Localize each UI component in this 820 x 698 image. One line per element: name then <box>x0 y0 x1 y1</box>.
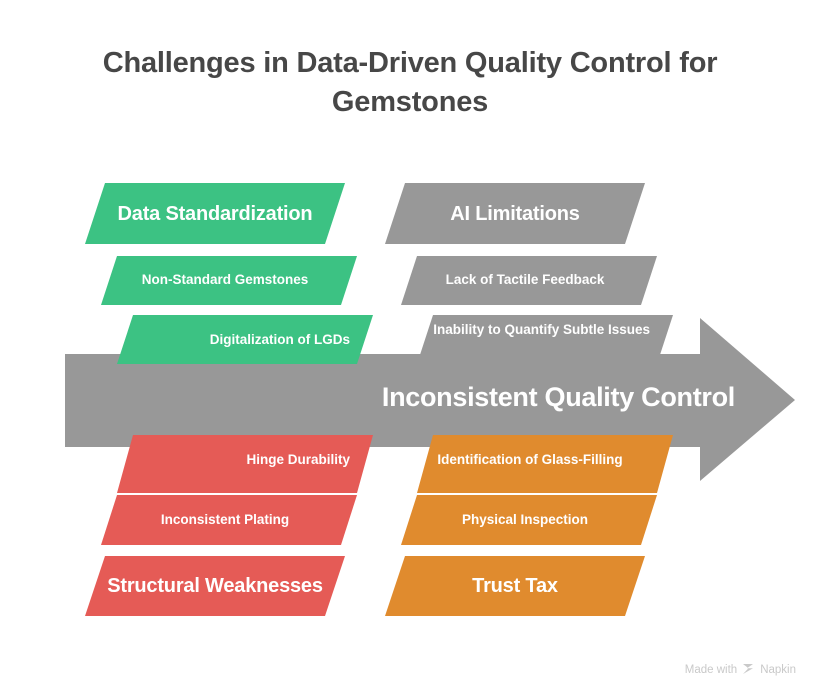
node-shape-br-1[interactable] <box>417 435 673 493</box>
watermark-brand: Napkin <box>760 664 796 676</box>
node-shape-tl-2[interactable] <box>117 315 373 364</box>
node-shape-bl-1[interactable] <box>117 435 373 493</box>
node-shape-br-head[interactable] <box>385 556 645 616</box>
watermark-prefix: Made with <box>685 664 737 676</box>
diagram-shapes <box>0 0 820 698</box>
node-shape-tl-1[interactable] <box>101 256 357 305</box>
node-shape-br-2[interactable] <box>401 495 657 545</box>
node-shape-bl-2[interactable] <box>101 495 357 545</box>
node-shape-tr-head[interactable] <box>385 183 645 244</box>
node-shape-tr-1[interactable] <box>401 256 657 305</box>
fishbone-diagram: Inconsistent Quality Control Data Standa… <box>0 0 820 698</box>
napkin-logo-icon <box>742 663 755 679</box>
watermark: Made with Napkin <box>685 663 796 679</box>
node-shape-tl-head[interactable] <box>85 183 345 244</box>
node-shape-tr-2[interactable] <box>417 315 673 364</box>
node-shape-bl-head[interactable] <box>85 556 345 616</box>
diagram-canvas: Challenges in Data-Driven Quality Contro… <box>0 0 820 698</box>
